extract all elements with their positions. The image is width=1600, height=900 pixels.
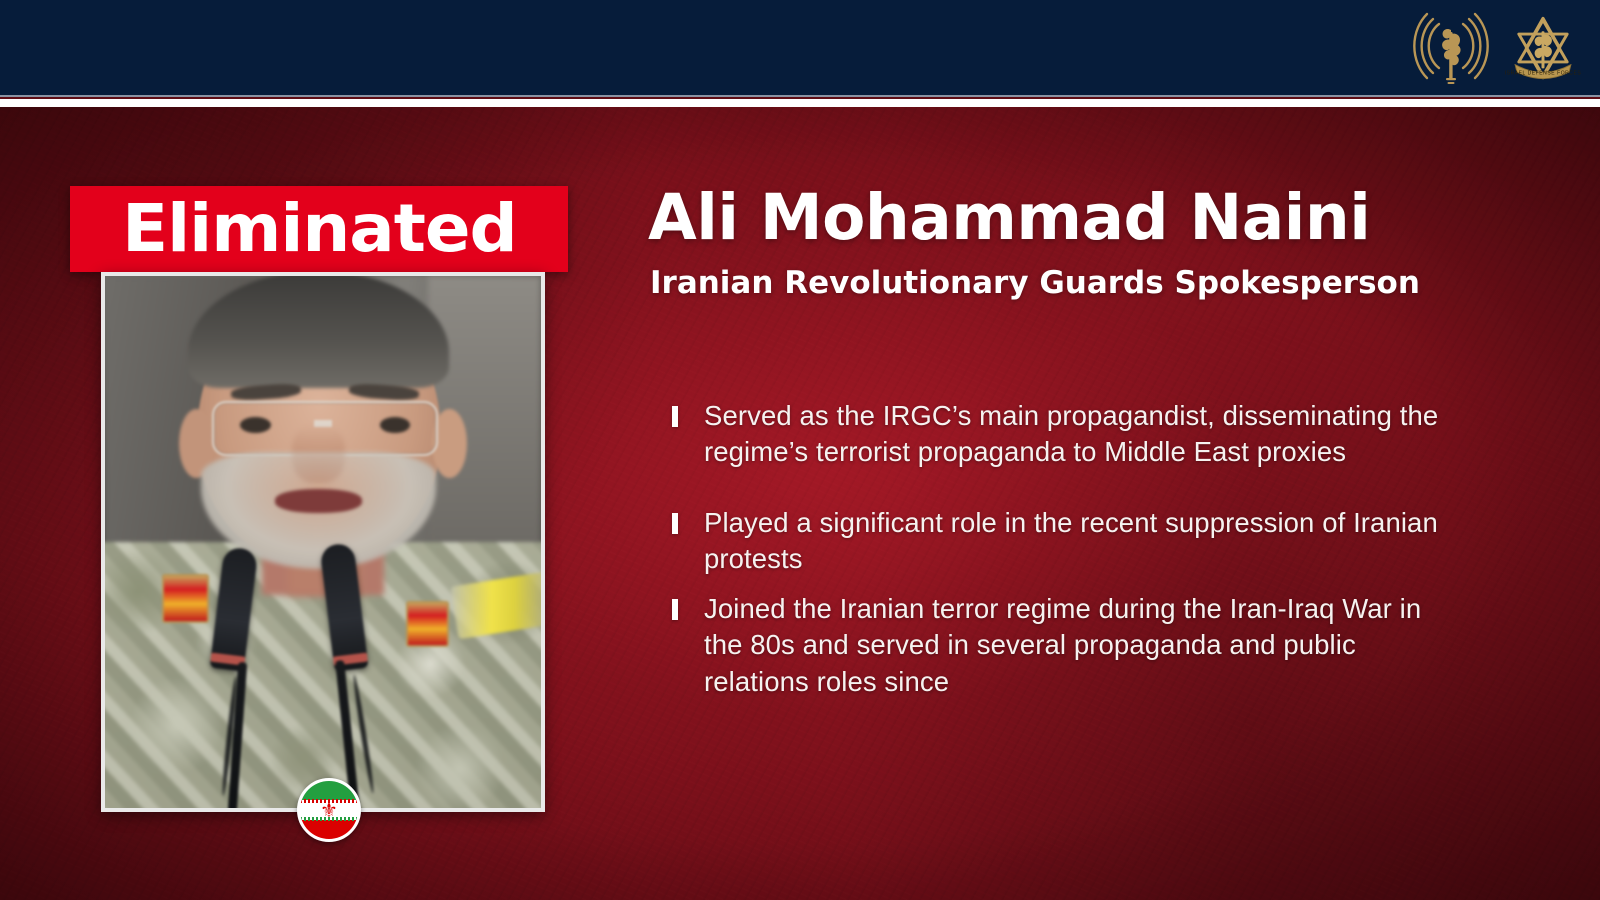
header-bar: ISRAEL DEFENSE FORCES [0,0,1600,97]
idf-emblem-banner-text: ISRAEL DEFENSE FORCES [1505,70,1582,76]
eliminated-label: Eliminated [122,196,517,262]
bullet-marker-icon [672,513,678,534]
page-title: Ali Mohammad Naini [648,186,1528,250]
mouth [275,489,362,513]
list-item-text: Played a significant role in the recent … [704,505,1462,578]
flag-emblem-icon: ⚜ [320,800,338,820]
text-content: Ali Mohammad Naini Iranian Revolutionary… [648,186,1528,300]
portrait-photo [105,276,541,808]
shoulder-insignia-right [406,601,449,648]
list-item: Played a significant role in the recent … [672,505,1462,578]
header-logo-group: ISRAEL DEFENSE FORCES [1412,6,1582,90]
idf-emblem-icon: ISRAEL DEFENSE FORCES [1504,6,1582,90]
list-item: Joined the Iranian terror regime during … [672,591,1462,700]
list-item: Served as the IRGC’s main propagandist, … [672,398,1462,471]
slide-root: ISRAEL DEFENSE FORCES Eliminated [0,0,1600,900]
list-item-text: Joined the Iranian terror regime during … [704,591,1462,700]
eliminated-banner: Eliminated [70,186,568,272]
flag-band-red [300,820,358,839]
portrait-frame [101,272,545,812]
page-subtitle: Iranian Revolutionary Guards Spokesperso… [650,266,1528,300]
bullet-marker-icon [672,406,678,427]
header-white-divider [0,99,1600,107]
iran-flag-badge: ⚜ [297,778,361,842]
portrait-illustration [105,276,541,808]
shoulder-insignia-left [162,574,210,623]
list-item-text: Served as the IRGC’s main propagandist, … [704,398,1462,471]
idf-spokesperson-logo-icon [1412,6,1490,90]
bullet-list: Served as the IRGC’s main propagandist, … [672,398,1462,700]
bullet-marker-icon [672,599,678,620]
